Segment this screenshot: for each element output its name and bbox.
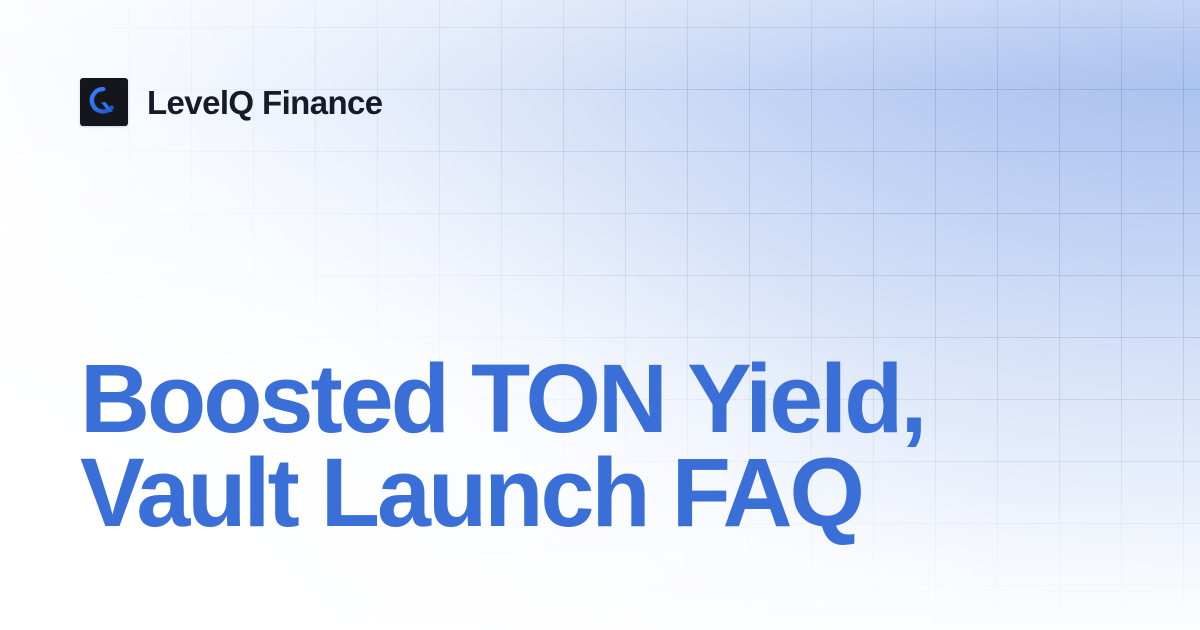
brand-name-text: LevelQ Finance bbox=[147, 86, 383, 119]
headline-line-1: Boosted TON Yield, bbox=[80, 352, 1090, 446]
headline-line-2: Vault Launch FAQ bbox=[80, 446, 1090, 540]
og-card: LevelQ Finance Boosted TON Yield, Vault … bbox=[0, 0, 1200, 630]
headline: Boosted TON Yield, Vault Launch FAQ bbox=[80, 352, 1090, 540]
levelq-logo-icon bbox=[80, 78, 128, 126]
brand-lockup: LevelQ Finance bbox=[80, 78, 383, 126]
card-content: LevelQ Finance Boosted TON Yield, Vault … bbox=[0, 0, 1200, 630]
